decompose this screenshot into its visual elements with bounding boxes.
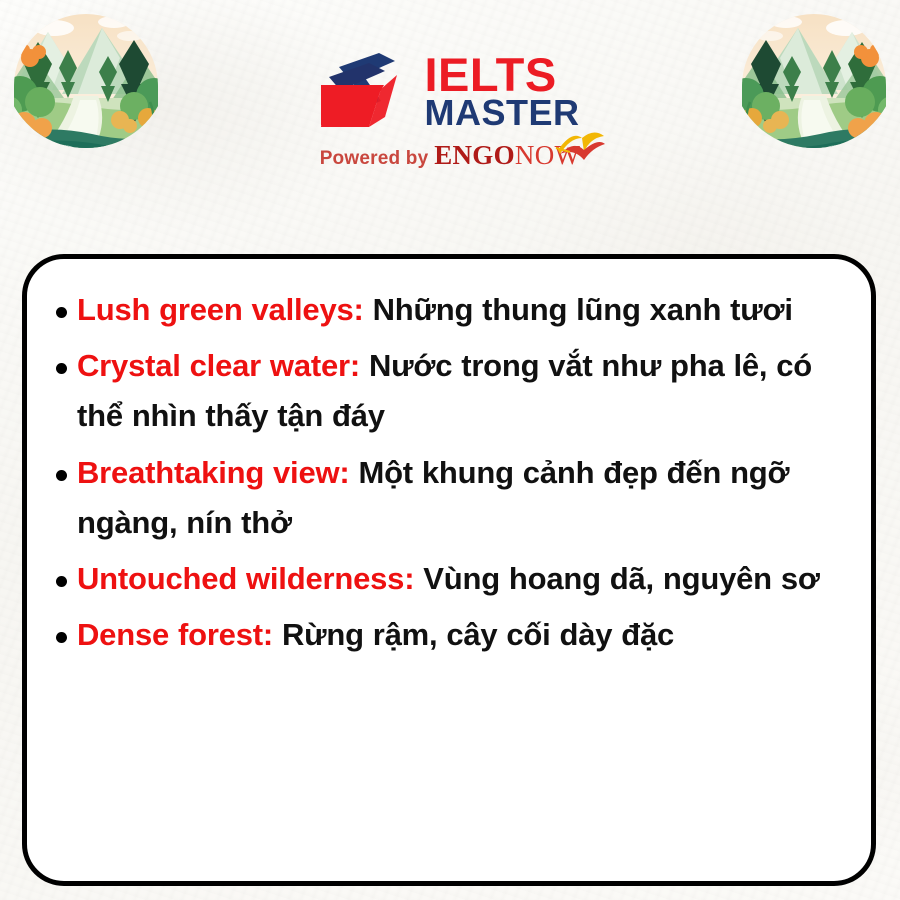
bullet-dot-icon [45, 554, 77, 587]
nature-illustration-left [2, 2, 170, 170]
powered-by-engo: ENGO [434, 140, 515, 170]
powered-by-line: Powered by ENGONOW [320, 142, 581, 169]
list-item: Dense forest: Rừng rậm, cây cối dày đặc [45, 610, 841, 660]
vocab-term: Untouched wilderness: [77, 561, 414, 596]
bullet-dot-icon [45, 285, 77, 318]
logo-text-ielts: IELTS [425, 53, 557, 96]
bullet-text: Crystal clear water: Nước trong vắt như … [77, 341, 841, 441]
vocab-term: Crystal clear water: [77, 348, 360, 383]
vocab-term: Breathtaking view: [77, 455, 350, 490]
list-item: Breathtaking view: Một khung cảnh đẹp đế… [45, 448, 841, 548]
bullet-dot-icon [45, 610, 77, 643]
bullet-text: Breathtaking view: Một khung cảnh đẹp đế… [77, 448, 841, 548]
brand-logo: IELTS MASTER Powered by ENGONOW [285, 48, 615, 169]
vocab-definition: Những thung lũng xanh tươi [373, 292, 793, 327]
vocab-definition: Rừng rậm, cây cối dày đặc [282, 617, 674, 652]
logo-text-master: MASTER [425, 96, 580, 129]
list-item: Crystal clear water: Nước trong vắt như … [45, 341, 841, 441]
vocabulary-list: Lush green valleys: Những thung lũng xan… [45, 285, 841, 661]
bullet-text: Lush green valleys: Những thung lũng xan… [77, 285, 841, 335]
bullet-text: Untouched wilderness: Vùng hoang dã, ngu… [77, 554, 841, 604]
bullet-dot-icon [45, 448, 77, 481]
open-book-swoosh-icon [554, 128, 606, 162]
bullet-dot-icon [45, 341, 77, 374]
list-item: Lush green valleys: Những thung lũng xan… [45, 285, 841, 335]
powered-by-prefix: Powered by [320, 148, 429, 169]
bullet-text: Dense forest: Rừng rậm, cây cối dày đặc [77, 610, 841, 660]
layered-book-logo-icon [321, 49, 417, 133]
vocab-term: Lush green valleys: [77, 292, 364, 327]
header-banner: IELTS MASTER Powered by ENGONOW [0, 0, 900, 232]
nature-illustration-right [730, 2, 898, 170]
list-item: Untouched wilderness: Vùng hoang dã, ngu… [45, 554, 841, 604]
vocabulary-card: Lush green valleys: Những thung lũng xan… [22, 254, 876, 886]
vocab-definition: Vùng hoang dã, nguyên sơ [423, 561, 819, 596]
vocab-term: Dense forest: [77, 617, 273, 652]
